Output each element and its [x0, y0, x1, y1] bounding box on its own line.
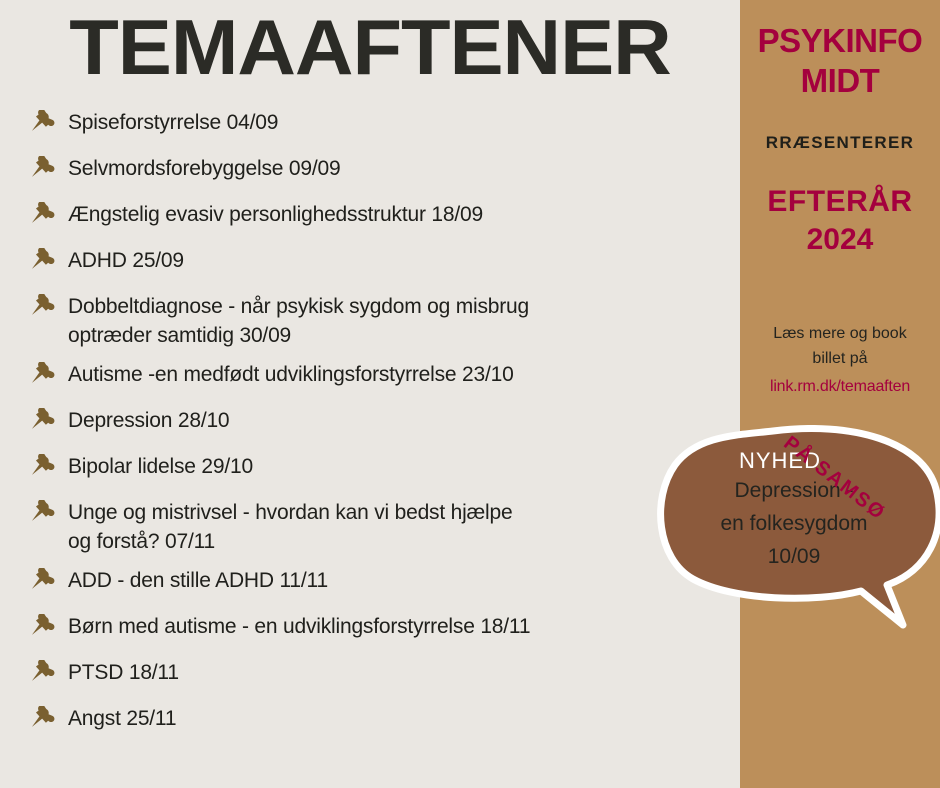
event-text: Børn med autisme - en udviklingsforstyrr…	[68, 612, 530, 641]
season-year: 2024	[740, 223, 940, 257]
event-text: ADHD 25/09	[68, 246, 184, 275]
season-label: EFTERÅR	[740, 185, 940, 219]
pushpin-icon	[28, 202, 58, 232]
pushpin-icon	[28, 500, 58, 530]
pushpin-icon	[28, 156, 58, 186]
presents-label: RRÆSENTERER	[740, 133, 940, 153]
event-title-line: Selvmordsforebyggelse 09/09	[68, 154, 340, 183]
pushpin-icon	[28, 568, 58, 598]
event-title-line: Bipolar lidelse 29/10	[68, 452, 253, 481]
event-text: Depression 28/10	[68, 406, 229, 435]
event-text: Angst 25/11	[68, 704, 176, 733]
pushpin-icon	[28, 248, 58, 278]
event-row[interactable]: Spiseforstyrrelse 04/09	[24, 108, 740, 142]
event-title-line: Spiseforstyrrelse 04/09	[68, 108, 278, 137]
left-content-panel: TEMAAFTENER Spiseforstyrrelse 04/09Selvm…	[0, 0, 740, 788]
pushpin-icon	[28, 454, 58, 484]
event-title-line: ADD - den stille ADHD 11/11	[68, 566, 328, 595]
event-title-line: PTSD 18/11	[68, 658, 179, 687]
event-text: Selvmordsforebyggelse 09/09	[68, 154, 340, 183]
event-row[interactable]: PTSD 18/11	[24, 658, 740, 692]
poster-canvas: TEMAAFTENER Spiseforstyrrelse 04/09Selvm…	[0, 0, 940, 788]
sidebar-panel: PSYKINFO MIDT RRÆSENTERER EFTERÅR 2024 L…	[740, 0, 940, 788]
event-title-line: Ængstelig evasiv personlighedsstruktur 1…	[68, 200, 483, 229]
event-title-line: ADHD 25/09	[68, 246, 184, 275]
event-text: Unge og mistrivsel - hvordan kan vi beds…	[68, 498, 512, 556]
event-title-line: Angst 25/11	[68, 704, 176, 733]
news-badge: NYHED	[638, 448, 922, 474]
event-row[interactable]: Selvmordsforebyggelse 09/09	[24, 154, 740, 188]
brand-name-line-1: PSYKINFO	[740, 22, 940, 60]
event-text: Spiseforstyrrelse 04/09	[68, 108, 278, 137]
event-title-line-2: og forstå? 07/11	[68, 527, 512, 556]
event-title-line: Børn med autisme - en udviklingsforstyrr…	[68, 612, 530, 641]
event-title-line-2: optræder samtidig 30/09	[68, 321, 529, 350]
event-row[interactable]: Bipolar lidelse 29/10	[24, 452, 740, 486]
event-text: ADD - den stille ADHD 11/11	[68, 566, 328, 595]
event-row[interactable]: Angst 25/11	[24, 704, 740, 738]
booking-text-line-1: Læs mere og book	[740, 325, 940, 343]
event-text: Dobbeltdiagnose - når psykisk sygdom og …	[68, 292, 529, 350]
booking-link[interactable]: link.rm.dk/temaaften	[740, 378, 940, 396]
event-row[interactable]: Autisme -en medfødt udviklingsforstyrrel…	[24, 360, 740, 394]
pushpin-icon	[28, 706, 58, 736]
booking-text-line-2: billet på	[740, 350, 940, 368]
event-row[interactable]: Unge og mistrivsel - hvordan kan vi beds…	[24, 498, 740, 556]
event-title-line: Unge og mistrivsel - hvordan kan vi beds…	[68, 498, 512, 527]
pushpin-icon	[28, 294, 58, 324]
event-text: Autisme -en medfødt udviklingsforstyrrel…	[68, 360, 514, 389]
event-row[interactable]: Børn med autisme - en udviklingsforstyrr…	[24, 612, 740, 646]
event-title-line: Depression 28/10	[68, 406, 229, 435]
event-list: Spiseforstyrrelse 04/09Selvmordsforebygg…	[24, 108, 740, 750]
pushpin-icon	[28, 660, 58, 690]
event-title-line: Dobbeltdiagnose - når psykisk sygdom og …	[68, 292, 529, 321]
event-text: Ængstelig evasiv personlighedsstruktur 1…	[68, 200, 483, 229]
pushpin-icon	[28, 408, 58, 438]
event-row[interactable]: Ængstelig evasiv personlighedsstruktur 1…	[24, 200, 740, 234]
event-text: Bipolar lidelse 29/10	[68, 452, 253, 481]
bubble-line-3: 10/09	[666, 540, 922, 573]
event-row[interactable]: Dobbeltdiagnose - når psykisk sygdom og …	[24, 292, 740, 350]
event-row[interactable]: Depression 28/10	[24, 406, 740, 440]
pushpin-icon	[28, 110, 58, 140]
event-title-line: Autisme -en medfødt udviklingsforstyrrel…	[68, 360, 514, 389]
event-row[interactable]: ADD - den stille ADHD 11/11	[24, 566, 740, 600]
pushpin-icon	[28, 614, 58, 644]
event-row[interactable]: ADHD 25/09	[24, 246, 740, 280]
brand-name-line-2: MIDT	[740, 62, 940, 100]
event-text: PTSD 18/11	[68, 658, 179, 687]
page-title: TEMAAFTENER	[0, 8, 755, 86]
pushpin-icon	[28, 362, 58, 392]
